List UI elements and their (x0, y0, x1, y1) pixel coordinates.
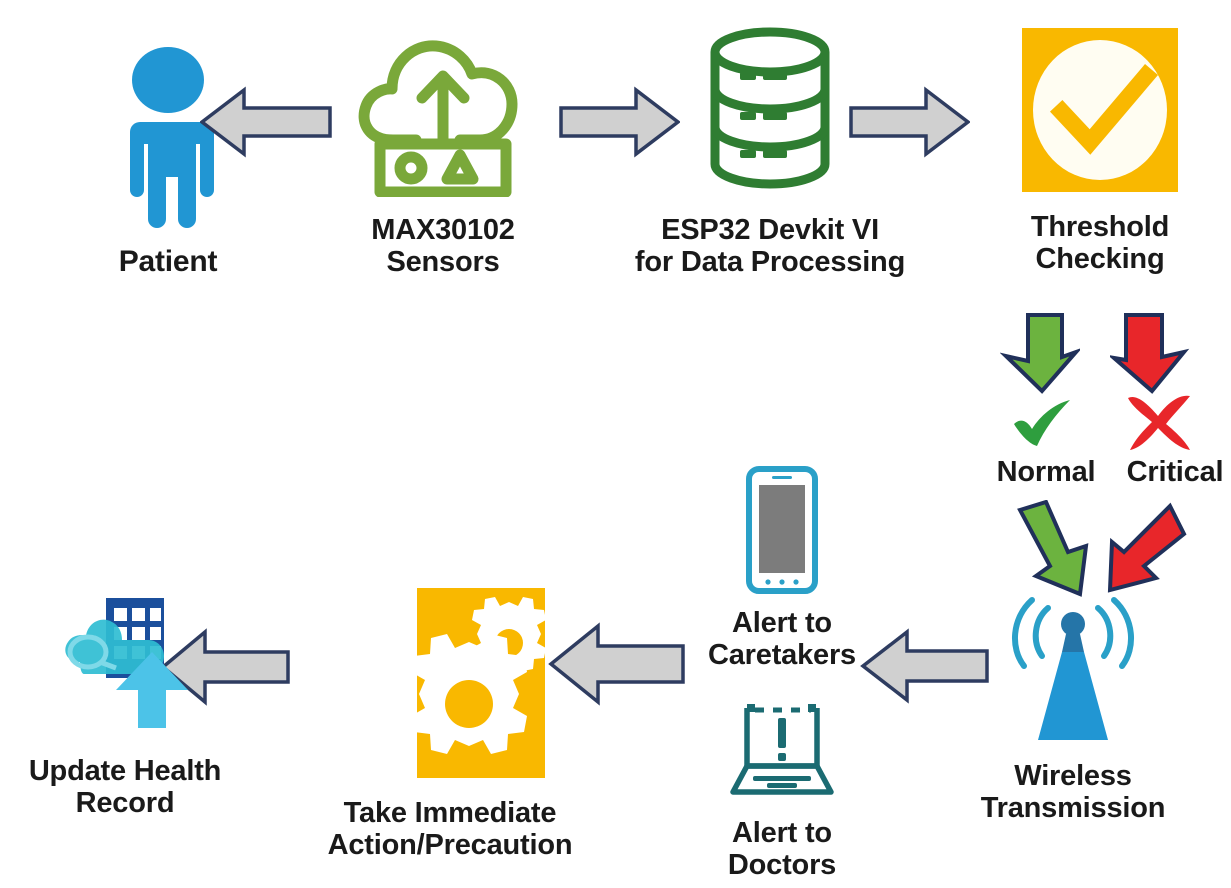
node-threshold[interactable]: Threshold Checking (994, 26, 1206, 276)
green-check-icon (1008, 398, 1080, 455)
smartphone-icon (692, 466, 872, 599)
node-action-label: Take Immediate Action/Precaution (290, 797, 610, 862)
connector-critical-to-wireless (1098, 498, 1190, 601)
connector-normal-to-wireless (1006, 500, 1098, 603)
node-sensors-label: MAX30102 Sensors (348, 214, 538, 279)
red-cross-icon (1120, 392, 1198, 457)
node-normal-label: Normal (978, 456, 1114, 488)
node-critical[interactable] (1120, 392, 1198, 457)
checkmark-circle-icon (994, 26, 1206, 199)
connector-threshold-to-critical (1110, 312, 1190, 399)
connector-esp32-to-threshold (848, 84, 970, 165)
connector-sensors-to-patient (200, 84, 332, 165)
node-patient-label: Patient (88, 245, 248, 279)
node-wireless[interactable]: Wireless Transmission (978, 594, 1168, 825)
node-doctors[interactable]: Alert to Doctors (692, 700, 872, 882)
flow-diagram: Patient MAX30102 Senso (0, 0, 1231, 888)
antenna-tower-icon (978, 594, 1168, 754)
node-caretakers-label: Alert to Caretakers (692, 607, 872, 672)
node-doctors-label: Alert to Doctors (692, 817, 872, 882)
hospital-cloud-upload-icon (10, 586, 240, 741)
laptop-alert-icon (692, 700, 872, 811)
node-record[interactable]: Update Health Record (10, 586, 240, 820)
node-wireless-label: Wireless Transmission (978, 760, 1168, 825)
node-threshold-label: Threshold Checking (994, 211, 1206, 276)
node-action[interactable]: Take Immediate Action/Precaution (290, 586, 610, 862)
connector-wireless-to-alerts (860, 626, 990, 711)
connector-threshold-to-normal (1000, 312, 1080, 399)
node-critical-label: Critical (1116, 456, 1231, 488)
node-record-label: Update Health Record (10, 755, 240, 820)
gears-icon (290, 586, 610, 783)
node-sensors[interactable]: MAX30102 Sensors (348, 22, 538, 279)
node-normal[interactable] (1008, 398, 1080, 455)
cloud-sensor-icon (348, 22, 538, 202)
node-esp32-label: ESP32 Devkit VI for Data Processing (620, 214, 920, 279)
node-caretakers[interactable]: Alert to Caretakers (692, 466, 872, 672)
